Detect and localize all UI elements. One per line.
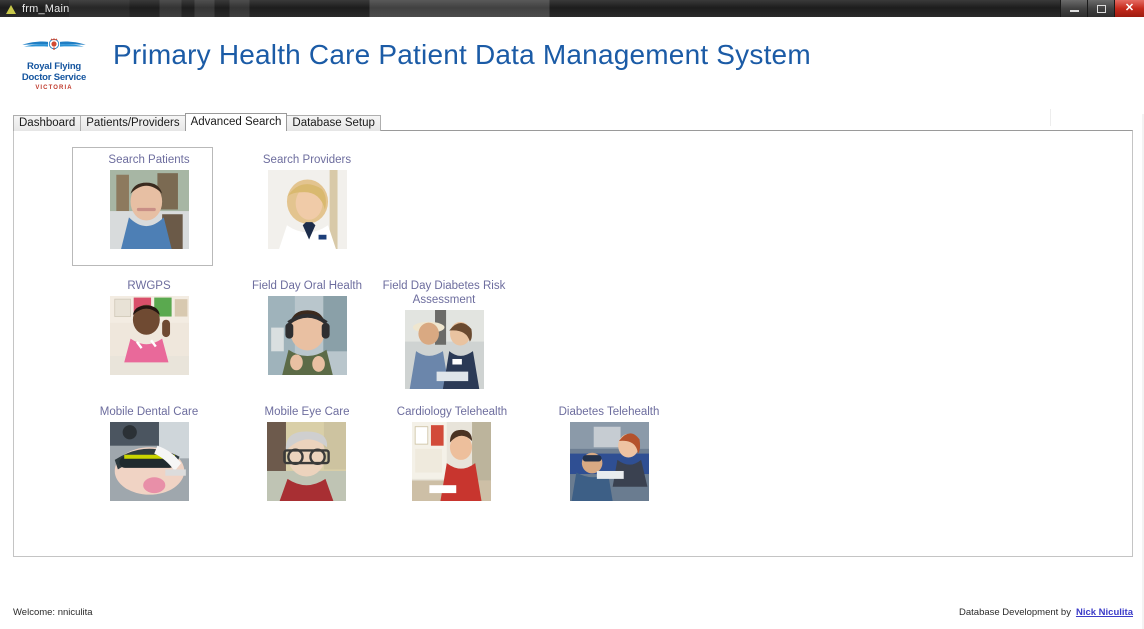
photo-boy-headphones[interactable] [268,296,347,375]
credit-prefix: Database Development by [959,607,1071,618]
photo-infant-pink-dress[interactable] [110,296,189,375]
developer-link[interactable]: Nick Niculita [1076,607,1133,618]
tab-bar: DashboardPatients/ProvidersAdvanced Sear… [13,114,380,131]
tile-label: Field Day Oral Health [252,279,362,293]
photo-elderly-woman-trial-frames[interactable] [267,422,346,501]
tile-label: Mobile Dental Care [100,405,198,419]
tile-field-day-diabetes-risk-assessment[interactable]: Field Day Diabetes Risk Assessment [379,279,509,389]
tile-mobile-dental-care[interactable]: Mobile Dental Care [84,405,214,501]
app-header: Royal Flying Doctor Service VICTORIA Pri… [0,17,1144,114]
window-title: frm_Main [22,3,69,15]
logo-line-3: VICTORIA [14,85,94,91]
tile-label: Diabetes Telehealth [559,405,660,419]
app-icon [5,3,17,15]
photo-dental-patient-goggles[interactable] [110,422,189,501]
tile-label: Search Patients [108,153,189,167]
photo-telehealth-consult[interactable] [570,422,649,501]
tab-database-setup[interactable]: Database Setup [286,115,380,131]
maximize-button[interactable] [1087,0,1114,17]
tile-mobile-eye-care[interactable]: Mobile Eye Care [242,405,372,501]
close-button[interactable]: ✕ [1114,0,1144,17]
titlebar-toolbar-area [69,0,1060,17]
tile-grid: Search PatientsSearch ProvidersRWGPSFiel… [14,131,1132,556]
minimize-button[interactable] [1060,0,1087,17]
tab-patients-providers[interactable]: Patients/Providers [80,115,185,131]
photo-farmer-and-nurse[interactable] [405,310,484,389]
tile-label: Search Providers [263,153,351,167]
tile-search-providers[interactable]: Search Providers [242,153,372,249]
photo-blonde-clinician[interactable] [268,170,347,249]
window-titlebar: frm_Main ✕ [0,0,1144,17]
tab-dashboard[interactable]: Dashboard [13,115,81,131]
welcome-text: Welcome: nniculita [13,607,93,618]
photo-clinician-red-polo-desk[interactable] [412,422,491,501]
tile-label: Cardiology Telehealth [397,405,507,419]
tile-cardiology-telehealth[interactable]: Cardiology Telehealth [387,405,517,501]
tile-search-patients[interactable]: Search Patients [84,153,214,249]
tile-rwgps[interactable]: RWGPS [84,279,214,375]
tile-label: Mobile Eye Care [264,405,349,419]
photo-young-man-blue-shirt[interactable] [110,170,189,249]
logo-emblem-icon [14,27,94,61]
tile-label: RWGPS [127,279,170,293]
header-divider [1050,109,1051,126]
tile-field-day-oral-health[interactable]: Field Day Oral Health [242,279,372,375]
tab-advanced-search[interactable]: Advanced Search [185,113,288,131]
status-footer: Welcome: nniculita Database Development … [13,600,1133,624]
tile-diabetes-telehealth[interactable]: Diabetes Telehealth [544,405,674,501]
rfds-logo: Royal Flying Doctor Service VICTORIA [14,27,94,91]
window-controls: ✕ [1060,0,1144,17]
tile-label: Field Day Diabetes Risk Assessment [383,279,506,307]
logo-line-1: Royal Flying [14,61,94,72]
credit-block: Database Development by Nick Niculita [959,607,1133,618]
logo-line-2: Doctor Service [14,72,94,83]
application-window: frm_Main ✕ Royal [0,0,1144,629]
advanced-search-panel: Search PatientsSearch ProvidersRWGPSFiel… [13,130,1133,557]
page-title: Primary Health Care Patient Data Managem… [113,39,811,71]
